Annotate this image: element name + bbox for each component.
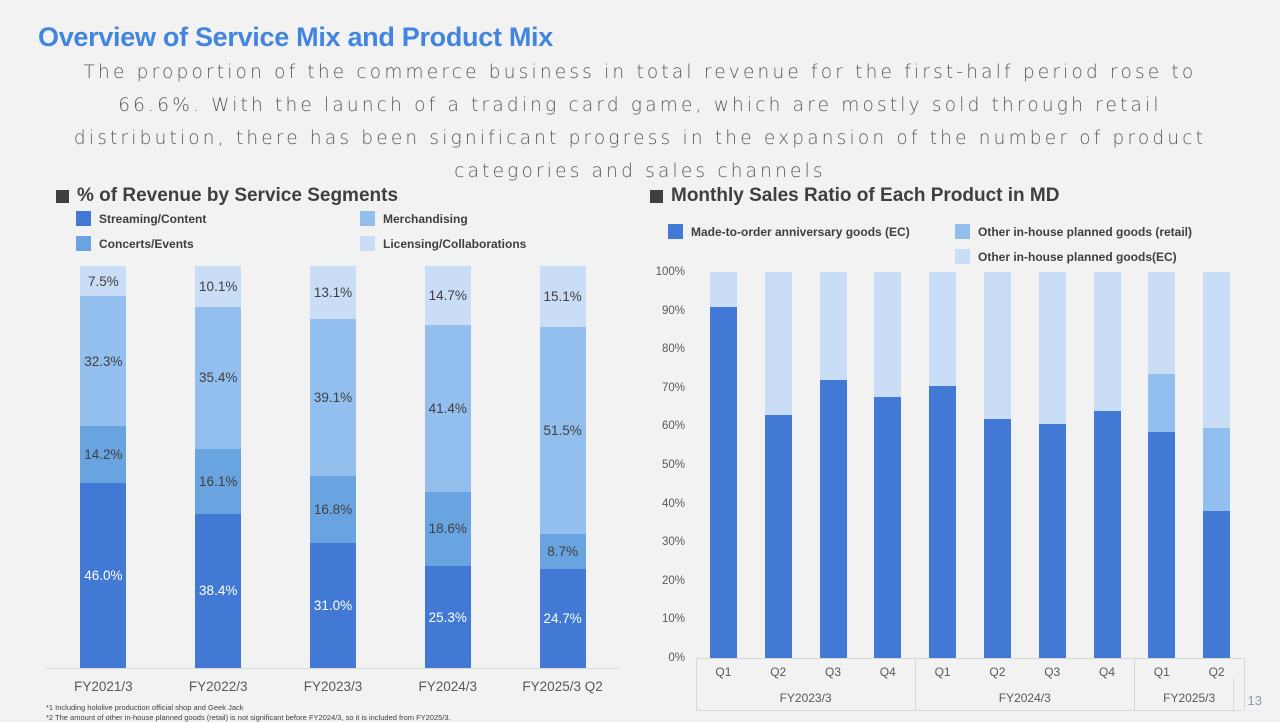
legend-item-other-in-house-planned-goods-ec[interactable]: Other in-house planned goods(EC) [955,249,1177,264]
right-chart-heading-label: Monthly Sales Ratio of Each Product in M… [671,185,1059,207]
bar-column[interactable] [984,272,1011,658]
right-chart-yaxis: 100%90%80%70%60%50%40%30%20%10%0% [640,262,685,672]
bar-segment-label: 16.8% [314,502,352,517]
page-title: Overview of Service Mix and Product Mix [38,22,553,53]
x-axis-quarter-label: Q4 [1080,665,1135,679]
bar-segment-label: 24.7% [543,611,581,626]
bar-segment [1148,374,1175,432]
right-chart-plot [696,272,1244,658]
right-chart-heading: Monthly Sales Ratio of Each Product in M… [650,185,1059,207]
bar-segment-label: 35.4% [199,370,237,385]
bar-segment [820,380,847,658]
legend-item-merchandising[interactable]: Merchandising [360,211,468,226]
x-axis-group-separator [696,658,697,710]
bar-segment-label: 31.0% [314,598,352,613]
bar-column[interactable]: 14.7%41.4%18.6%25.3% [425,266,471,668]
y-axis-tick-label: 10% [643,613,685,625]
legend-item-licensing-collaborations[interactable]: Licensing/Collaborations [360,236,526,251]
legend-item-made-to-order-anniversary-goods-ec[interactable]: Made-to-order anniversary goods (EC) [668,224,910,239]
bar-segment-label: 32.3% [84,354,122,369]
bar-column[interactable] [1039,272,1066,658]
bar-segment: 51.5% [540,327,586,534]
bar-segment-label: 41.4% [429,401,467,416]
legend-label: Other in-house planned goods (retail) [978,225,1192,239]
bar-segment [1039,424,1066,658]
bar-segment [984,419,1011,658]
bar-segment [929,272,956,386]
x-axis-group-label: FY2023/3 [696,691,915,705]
left-chart-plot: 7.5%32.3%14.2%46.0%10.1%35.4%16.1%38.4%1… [46,266,620,668]
bar-segment-label: 39.1% [314,390,352,405]
bar-segment-label: 25.3% [429,610,467,625]
bar-column[interactable] [929,272,956,658]
bar-segment [1148,432,1175,658]
y-axis-tick-label: 50% [643,459,685,471]
bar-segment: 10.1% [195,266,241,307]
bar-segment [820,272,847,380]
y-axis-tick-label: 0% [643,652,685,664]
legend-swatch-icon [76,211,91,226]
bar-segment: 14.2% [80,426,126,483]
x-axis-quarter-label: Q1 [1134,665,1189,679]
bar-segment: 16.8% [310,476,356,544]
left-chart-heading: % of Revenue by Service Segments [56,185,398,207]
x-axis-quarter-label: Q3 [806,665,861,679]
bar-column[interactable]: 15.1%51.5%8.7%24.7% [540,266,586,668]
bar-segment: 24.7% [540,569,586,668]
x-axis-label: FY2025/3 Q2 [505,679,620,694]
footnote-2: *2 The amount of other in-house planned … [46,713,451,722]
bullet-square-icon [56,190,69,203]
legend-swatch-icon [360,236,375,251]
bar-column[interactable]: 7.5%32.3%14.2%46.0% [80,266,126,668]
bar-segment [710,307,737,658]
x-axis-label: FY2024/3 [390,679,505,694]
x-axis-label: FY2021/3 [46,679,161,694]
slide-root: Overview of Service Mix and Product Mix … [0,0,1280,720]
legend-item-other-in-house-planned-goods-retail[interactable]: Other in-house planned goods (retail) [955,224,1192,239]
x-axis-label: FY2023/3 [276,679,391,694]
bar-column[interactable] [710,272,737,658]
y-axis-tick-label: 30% [643,536,685,548]
x-axis-quarter-label: Q2 [751,665,806,679]
bar-segment: 46.0% [80,483,126,668]
bar-segment-label: 10.1% [199,279,237,294]
bar-segment [1203,272,1230,428]
bar-segment [984,272,1011,419]
x-axis-group-label: FY2025/3 [1134,691,1244,705]
y-axis-tick-label: 70% [643,382,685,394]
bar-segment [765,272,792,415]
page-number: 13 [1248,693,1262,708]
page-divider [1233,678,1234,712]
bar-segment: 35.4% [195,307,241,449]
bar-segment: 14.7% [425,266,471,325]
bar-column[interactable] [1148,272,1175,658]
bar-segment-label: 38.4% [199,583,237,598]
bar-segment-label: 8.7% [547,544,578,559]
bar-segment-label: 15.1% [543,289,581,304]
bar-segment-label: 14.2% [84,447,122,462]
x-axis-quarter-label: Q3 [1025,665,1080,679]
legend-label: Merchandising [383,212,468,226]
bar-segment [929,386,956,658]
footnote-1: *1 Including hololive production officia… [46,703,244,712]
y-axis-tick-label: 100% [643,266,685,278]
legend-swatch-icon [668,224,683,239]
bar-segment: 18.6% [425,492,471,567]
bar-segment-label: 18.6% [429,521,467,536]
bar-segment [874,397,901,658]
legend-label: Streaming/Content [99,212,206,226]
bar-segment-label: 16.1% [199,474,237,489]
legend-swatch-icon [76,236,91,251]
bar-segment-label: 46.0% [84,568,122,583]
x-axis-group-label: FY2024/3 [915,691,1134,705]
bar-segment: 25.3% [425,566,471,668]
bar-segment [1203,511,1230,658]
bar-segment-label: 7.5% [88,274,119,289]
bar-column[interactable]: 13.1%39.1%16.8%31.0% [310,266,356,668]
right-chart-baseline [696,658,1244,659]
y-axis-tick-label: 90% [643,305,685,317]
legend-swatch-icon [955,224,970,239]
bar-segment-label: 13.1% [314,285,352,300]
bar-segment [1094,411,1121,658]
legend-swatch-icon [955,249,970,264]
x-axis-quarter-label: Q4 [860,665,915,679]
bar-segment [1094,272,1121,411]
x-axis-quarter-label: Q2 [970,665,1025,679]
bar-column[interactable] [1203,272,1230,658]
bar-segment: 13.1% [310,266,356,319]
bar-column[interactable] [1094,272,1121,658]
bar-segment-label: 14.7% [429,288,467,303]
legend-item-concerts-events[interactable]: Concerts/Events [76,236,194,251]
bar-column[interactable] [765,272,792,658]
bullet-square-icon [650,190,663,203]
left-chart-heading-label: % of Revenue by Service Segments [77,185,398,207]
bar-column[interactable] [874,272,901,658]
slide-subtitle: The proportion of the commerce business … [40,56,1240,188]
bar-segment: 7.5% [80,266,126,296]
bar-segment: 38.4% [195,514,241,668]
y-axis-tick-label: 40% [643,498,685,510]
bar-segment: 15.1% [540,266,586,327]
legend-item-streaming-content[interactable]: Streaming/Content [76,211,206,226]
y-axis-tick-label: 60% [643,420,685,432]
legend-label: Other in-house planned goods(EC) [978,250,1177,264]
x-axis-quarter-label: Q1 [915,665,970,679]
y-axis-tick-label: 80% [643,343,685,355]
legend-label: Licensing/Collaborations [383,237,526,251]
bar-segment-label: 51.5% [543,423,581,438]
bar-segment: 39.1% [310,319,356,476]
bar-segment: 31.0% [310,543,356,668]
bar-segment [1203,428,1230,511]
bar-column[interactable]: 10.1%35.4%16.1%38.4% [195,266,241,668]
bar-segment [765,415,792,658]
x-axis-group-separator [1134,658,1135,710]
y-axis-tick-label: 20% [643,575,685,587]
legend-label: Made-to-order anniversary goods (EC) [691,225,910,239]
x-axis-group-separator [1244,658,1245,710]
bar-segment: 32.3% [80,296,126,426]
bar-segment [1148,272,1175,374]
bar-column[interactable] [820,272,847,658]
right-chart-axis-bottom-line [696,710,1244,711]
bar-segment: 8.7% [540,534,586,569]
left-chart-baseline [46,668,620,669]
x-axis-quarter-label: Q2 [1189,665,1244,679]
legend-label: Concerts/Events [99,237,194,251]
bar-segment: 16.1% [195,449,241,514]
bar-segment [874,272,901,397]
x-axis-group-separator [915,658,916,710]
bar-segment: 41.4% [425,325,471,491]
legend-swatch-icon [360,211,375,226]
bar-segment [710,272,737,307]
x-axis-label: FY2022/3 [161,679,276,694]
x-axis-quarter-label: Q1 [696,665,751,679]
bar-segment [1039,272,1066,424]
